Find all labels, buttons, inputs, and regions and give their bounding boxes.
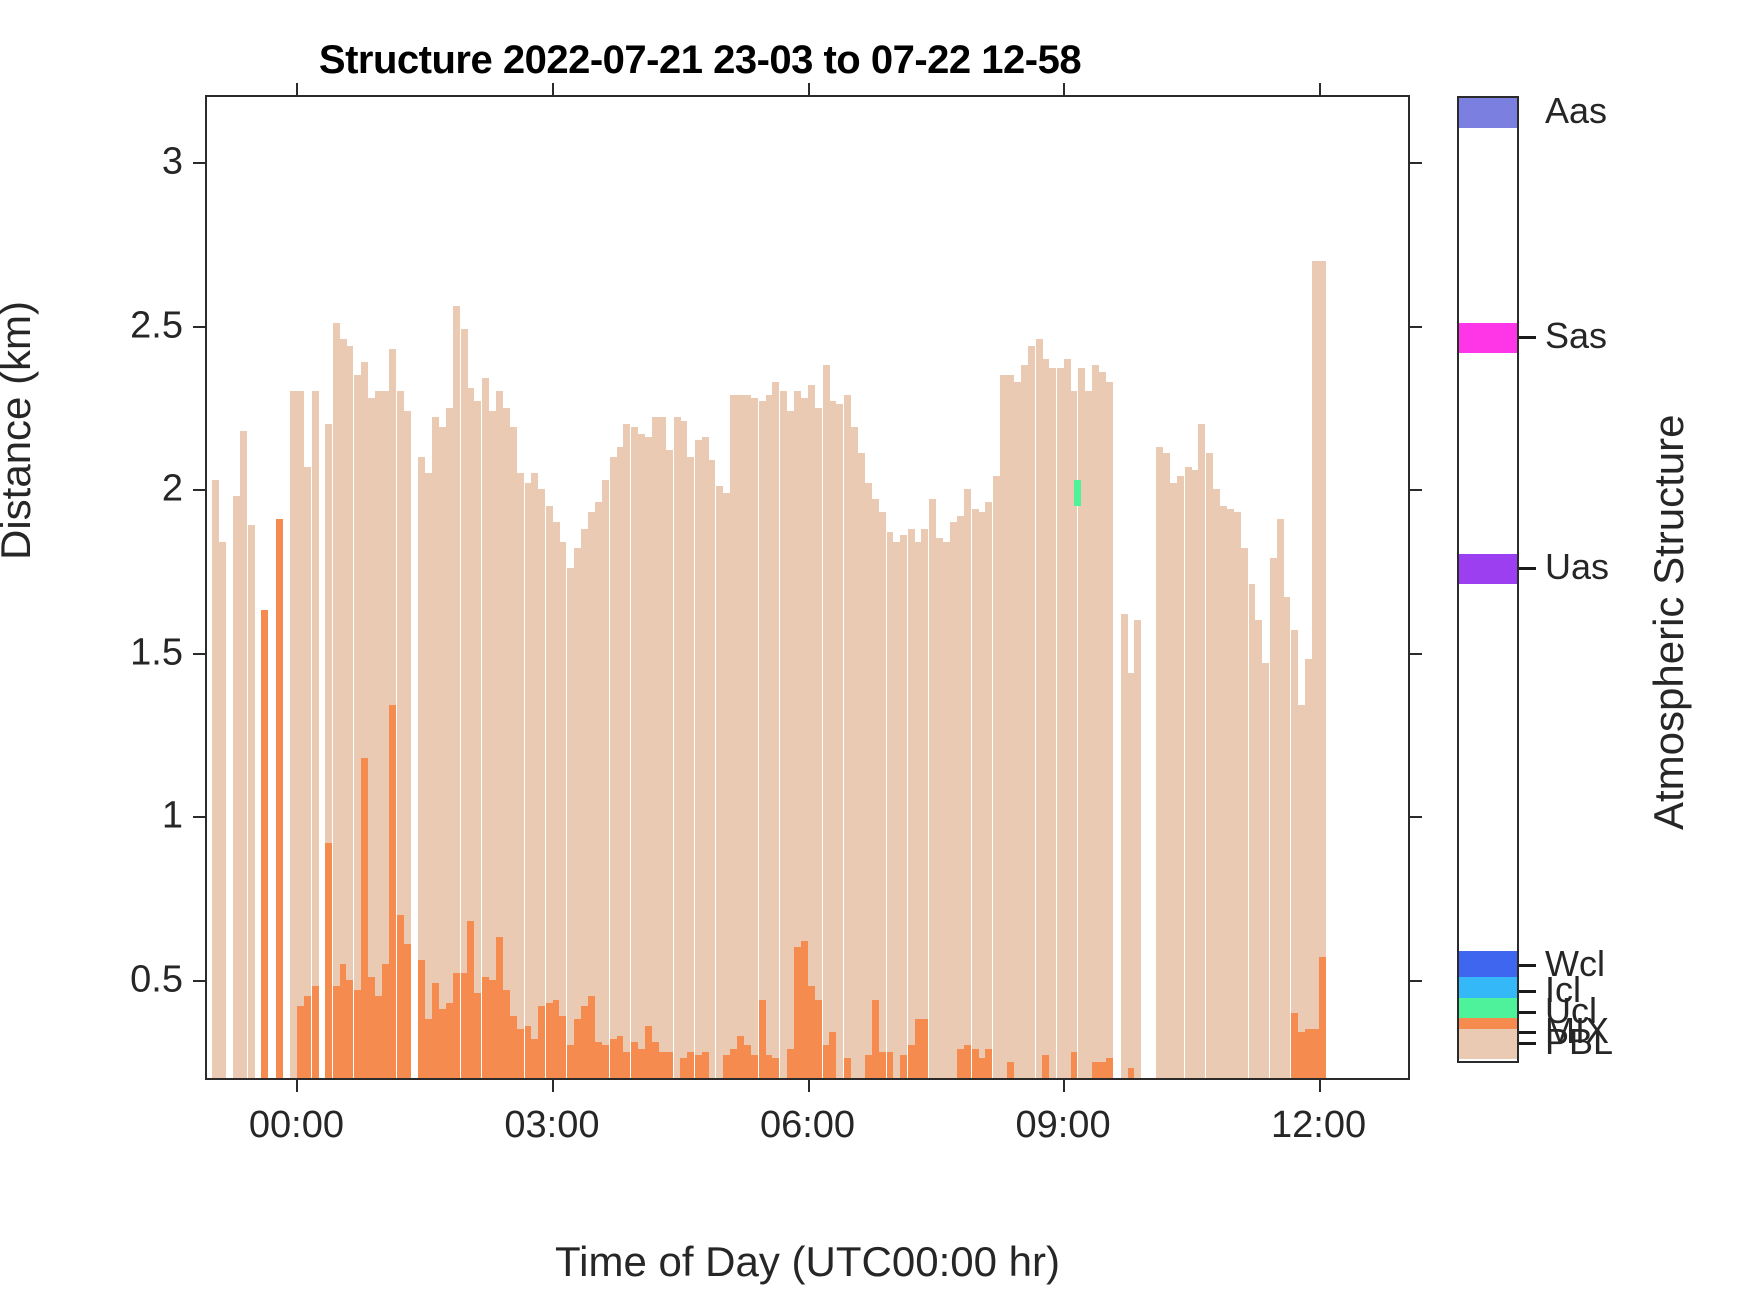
y-tick-mirror — [1408, 980, 1422, 982]
y-tick-mirror — [1408, 489, 1422, 491]
bar-segment-pbl — [453, 306, 460, 1078]
x-tick-mirror — [552, 83, 554, 97]
bar-segment-mix — [1319, 957, 1326, 1078]
bar-column — [794, 391, 801, 1078]
y-tick-label: 1.5 — [130, 631, 183, 674]
bar-segment-pbl — [964, 489, 971, 1078]
bar-column — [879, 512, 886, 1078]
bar-segment-mix — [304, 996, 311, 1078]
bar-column — [900, 535, 907, 1078]
x-tick-label: 03:00 — [504, 1104, 599, 1147]
bar-segment-mix — [1092, 1062, 1099, 1078]
bar-column — [1283, 597, 1290, 1078]
bar-segment-pbl — [1177, 476, 1184, 1078]
bar-column — [1049, 368, 1056, 1078]
colorbar-tick — [1519, 567, 1536, 570]
bar-column — [730, 395, 737, 1078]
colorbar-label-uas: Uas — [1545, 546, 1609, 588]
bar-segment-pbl — [943, 542, 950, 1078]
bar-segment-ucl — [1074, 480, 1081, 506]
bar-column — [389, 349, 396, 1078]
bar-segment-mix — [921, 1019, 928, 1078]
y-tick-label: 1 — [162, 795, 183, 838]
y-tick-label: 3 — [162, 141, 183, 184]
bar-column — [1156, 447, 1163, 1078]
x-tick — [296, 1078, 298, 1092]
x-tick — [1319, 1078, 1321, 1092]
bar-segment-pbl — [1220, 506, 1227, 1078]
colorbar-tick — [1519, 1031, 1536, 1034]
bar-segment-mix — [453, 973, 460, 1078]
bar-column — [815, 408, 822, 1078]
bar-segment-mix — [389, 705, 396, 1078]
bar-segment-mix — [751, 1055, 758, 1078]
bar-segment-pbl — [730, 395, 737, 1078]
bar-column — [1028, 346, 1035, 1078]
bar-segment-pbl — [666, 450, 673, 1078]
bar-segment-pbl — [772, 382, 779, 1079]
bar-column — [709, 460, 716, 1078]
bar-column — [943, 542, 950, 1078]
bar-column — [325, 424, 332, 1078]
bar-segment-mix — [474, 993, 481, 1078]
bar-column — [602, 480, 609, 1078]
bar-column — [645, 437, 652, 1078]
colorbar-swatch-aas — [1459, 98, 1517, 128]
bar-segment-mix — [687, 1052, 694, 1078]
bar-column — [1134, 620, 1141, 1078]
bar-segment-mix — [1071, 1052, 1078, 1078]
colorbar-swatch-sas — [1459, 323, 1517, 353]
bar-column — [1092, 365, 1099, 1078]
bar-segment-pbl — [1028, 346, 1035, 1078]
y-tick — [193, 816, 207, 818]
bar-segment-mix — [432, 983, 439, 1078]
bar-column — [666, 450, 673, 1078]
bar-column — [496, 391, 503, 1078]
bar-segment-pbl — [1319, 261, 1326, 1079]
bar-segment-pbl — [836, 404, 843, 1078]
bar-column — [368, 398, 375, 1078]
bar-column — [836, 404, 843, 1078]
y-axis-title: Distance (km) — [0, 301, 40, 560]
bar-column — [1198, 424, 1205, 1078]
colorbar-label-aas: Aas — [1545, 90, 1607, 132]
bar-segment-mix — [602, 1045, 609, 1078]
bar-column — [751, 398, 758, 1078]
bar-column — [432, 417, 439, 1078]
bar-segment-pbl — [751, 398, 758, 1078]
bar-segment-mix — [368, 977, 375, 1078]
x-tick-label: 06:00 — [760, 1104, 855, 1147]
bar-segment-mix — [517, 1029, 524, 1078]
bar-segment-mix — [325, 843, 332, 1078]
x-tick-label: 00:00 — [249, 1104, 344, 1147]
bar-segment-pbl — [240, 431, 247, 1078]
bar-column — [346, 346, 353, 1078]
bar-column — [517, 473, 524, 1078]
bar-column — [404, 411, 411, 1078]
bar-column — [261, 610, 268, 1078]
bar-segment-pbl — [858, 453, 865, 1078]
x-tick-mirror — [296, 83, 298, 97]
bar-segment-mix — [312, 986, 319, 1078]
colorbar-tick — [1519, 990, 1536, 993]
bar-column — [623, 424, 630, 1078]
y-tick-label: 2 — [162, 468, 183, 511]
bar-segment-pbl — [815, 408, 822, 1078]
bar-column — [1177, 476, 1184, 1078]
bar-column — [312, 391, 319, 1078]
bar-segment-pbl — [645, 437, 652, 1078]
bar-segment-mix — [879, 1052, 886, 1078]
bar-segment-mix — [645, 1026, 652, 1078]
x-tick-label: 09:00 — [1015, 1104, 1110, 1147]
bar-column — [581, 529, 588, 1078]
bar-segment-pbl — [248, 525, 255, 1078]
bar-segment-pbl — [346, 346, 353, 1078]
x-tick-mirror — [1063, 83, 1065, 97]
y-tick — [193, 162, 207, 164]
bar-segment-pbl — [432, 417, 439, 1078]
bar-segment-mix — [538, 1006, 545, 1078]
bar-segment-pbl — [985, 502, 992, 1078]
bar-segment-pbl — [623, 424, 630, 1078]
bar-column — [964, 489, 971, 1078]
bar-column — [1319, 261, 1326, 1079]
colorbar-legend[interactable] — [1457, 96, 1519, 1063]
bar-segment-mix — [559, 1016, 566, 1078]
colorbar-tick — [1519, 336, 1536, 339]
bar-segment-mix — [900, 1055, 907, 1078]
y-tick-label: 0.5 — [130, 958, 183, 1001]
bar-segment-pbl — [559, 542, 566, 1078]
bar-segment-pbl — [900, 535, 907, 1078]
x-tick — [808, 1078, 810, 1092]
bar-segment-pbl — [581, 529, 588, 1078]
bar-column — [276, 519, 283, 1078]
colorbar-tick — [1519, 1011, 1536, 1014]
bar-segment-pbl — [1198, 424, 1205, 1078]
bar-column — [474, 401, 481, 1078]
bar-column — [1106, 382, 1113, 1079]
y-tick — [193, 653, 207, 655]
bar-segment-mix — [346, 980, 353, 1078]
bar-segment-mix — [496, 937, 503, 1078]
y-tick-mirror — [1408, 653, 1422, 655]
bar-column — [240, 431, 247, 1078]
bar-segment-mix — [276, 519, 283, 1078]
bar-segment-pbl — [1134, 620, 1141, 1078]
bar-segment-pbl — [312, 391, 319, 1078]
bar-segment-mix — [1106, 1058, 1113, 1078]
bar-segment-pbl — [1049, 368, 1056, 1078]
bar-segment-pbl — [921, 529, 928, 1078]
bar-segment-pbl — [517, 473, 524, 1078]
y-tick-label: 2.5 — [130, 304, 183, 347]
x-axis-title: Time of Day (UTC00:00 hr) — [205, 1238, 1410, 1286]
bar-column — [1241, 548, 1248, 1078]
x-tick — [1063, 1078, 1065, 1092]
bar-column — [538, 489, 545, 1078]
colorbar-tick — [1519, 964, 1536, 967]
bar-segment-pbl — [538, 489, 545, 1078]
bar-column — [1305, 659, 1312, 1078]
bar-column — [1262, 663, 1269, 1078]
colorbar-title: Atmospheric Structure — [1645, 415, 1693, 831]
bar-segment-mix — [1007, 1062, 1014, 1078]
plot-canvas — [207, 97, 1408, 1078]
bar-column — [858, 453, 865, 1078]
x-tick-mirror — [808, 83, 810, 97]
colorbar-label-sas: Sas — [1545, 315, 1607, 357]
chart-root: Structure 2022-07-21 23-03 to 07-22 12-5… — [0, 0, 1750, 1313]
bar-column — [453, 306, 460, 1078]
bar-column — [219, 542, 226, 1078]
colorbar-swatch-pbl — [1459, 1029, 1517, 1059]
bar-segment-pbl — [687, 457, 694, 1078]
bar-segment-mix — [815, 1000, 822, 1078]
bar-column — [1220, 506, 1227, 1078]
bar-segment-pbl — [1092, 365, 1099, 1078]
bar-segment-mix — [730, 1049, 737, 1078]
bar-segment-pbl — [1305, 659, 1312, 1078]
bar-column — [248, 525, 255, 1078]
colorbar-label-pbl: PBL — [1545, 1021, 1613, 1063]
x-tick-label: 12:00 — [1271, 1104, 1366, 1147]
page-title: Structure 2022-07-21 23-03 to 07-22 12-5… — [0, 38, 1400, 83]
y-tick — [193, 326, 207, 328]
bar-segment-mix — [1305, 1029, 1312, 1078]
bar-segment-pbl — [1156, 447, 1163, 1078]
y-tick-mirror — [1408, 816, 1422, 818]
bar-segment-mix — [964, 1045, 971, 1078]
bar-segment-pbl — [304, 467, 311, 1078]
bar-segment-pbl — [219, 542, 226, 1078]
bar-segment-mix — [404, 944, 411, 1078]
x-tick-mirror — [1319, 83, 1321, 97]
bar-segment-mix — [261, 610, 268, 1078]
bar-segment-pbl — [1007, 375, 1014, 1078]
bar-segment-pbl — [1241, 548, 1248, 1078]
bar-segment-mix — [985, 1049, 992, 1078]
bar-column — [304, 467, 311, 1078]
bar-column — [772, 382, 779, 1079]
bar-segment-pbl — [474, 401, 481, 1078]
bar-segment-pbl — [879, 512, 886, 1078]
y-tick-mirror — [1408, 162, 1422, 164]
colorbar-tick — [1519, 1042, 1536, 1045]
bar-column — [1007, 375, 1014, 1078]
y-tick — [193, 980, 207, 982]
bar-segment-mix — [666, 1052, 673, 1078]
bar-segment-pbl — [1262, 663, 1269, 1078]
bar-column — [687, 457, 694, 1078]
bar-column — [559, 542, 566, 1078]
bar-segment-pbl — [1106, 382, 1113, 1079]
bar-segment-pbl — [709, 460, 716, 1078]
y-tick-mirror — [1408, 326, 1422, 328]
x-tick — [552, 1078, 554, 1092]
bar-segment-pbl — [1283, 597, 1290, 1078]
colorbar-swatch-uas — [1459, 554, 1517, 584]
bar-column — [985, 502, 992, 1078]
bar-segment-pbl — [602, 480, 609, 1078]
bar-segment-mix — [581, 1006, 588, 1078]
bar-segment-mix — [794, 947, 801, 1078]
y-tick — [193, 489, 207, 491]
bar-column — [921, 529, 928, 1078]
bar-segment-mix — [623, 1052, 630, 1078]
bar-segment-mix — [772, 1058, 779, 1078]
plot-area: 0.511.522.53 00:0003:0006:0009:0012:00 — [205, 95, 1410, 1080]
